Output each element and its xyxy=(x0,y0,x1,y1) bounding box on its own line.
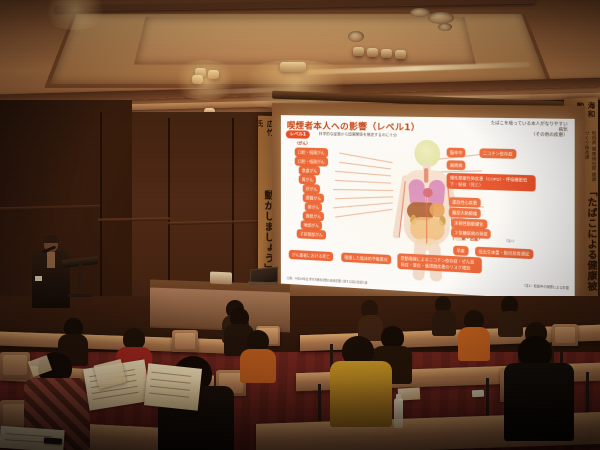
slide-top-note: たばこを吸っている本人がなりやすい 病気 〈その他の疾患〉 xyxy=(491,120,568,137)
chip-cancer: 胃がん xyxy=(299,175,316,185)
chip-cancer: 子宮頸部がん xyxy=(297,229,326,239)
leader-line xyxy=(335,196,393,199)
chip-birth: 低出生体重・胎児発育遅延 xyxy=(475,247,533,259)
attendee-body xyxy=(498,311,523,337)
leader-line xyxy=(335,180,391,183)
lectern-base xyxy=(68,294,92,297)
chip-other: 歯周病 xyxy=(447,160,466,170)
chip-other: 慢性閉塞性肺疾患（COPD）・呼吸機能低下・結核（死亡） xyxy=(447,173,536,192)
ceiling-vent xyxy=(348,31,364,42)
chair xyxy=(172,330,198,352)
projection-screen: 喫煙者本人への影響（レベル1） たばこを吸っている本人がなりやすい 病気 〈その… xyxy=(272,103,585,319)
slide-side-note: （注1）妊娠中の喫煙による影響 xyxy=(522,283,569,290)
chip-birth: 早産 xyxy=(453,246,468,256)
ceiling-light-housing xyxy=(280,62,306,72)
attendee-body xyxy=(432,310,456,336)
attendee-body xyxy=(504,363,574,441)
organ-trachea xyxy=(424,168,428,183)
wall-seam xyxy=(232,118,234,293)
equipment-box xyxy=(210,272,232,285)
leader-line xyxy=(333,189,393,191)
ceiling-spotlight-icon xyxy=(395,50,406,59)
slide-subtitle: 科学的な証拠から因果関係を推定するのに十分 xyxy=(319,132,397,139)
ceiling-spotlight-icon xyxy=(208,70,219,79)
presenter-hair xyxy=(43,235,59,243)
chip-bottom: がん患者における死亡 xyxy=(289,250,333,261)
table-leg xyxy=(586,372,589,418)
water-bottle xyxy=(394,398,403,428)
ceiling-vent xyxy=(410,8,430,17)
laptop xyxy=(248,268,278,286)
chip-other: 腹部大動脈瘤 xyxy=(449,208,481,219)
ceiling-vent xyxy=(438,23,452,31)
wall-seam xyxy=(100,112,102,302)
presenter-name-badge xyxy=(35,276,42,281)
attendee-body xyxy=(458,327,490,361)
handout-document xyxy=(144,363,202,410)
ceiling-spotlight-icon xyxy=(353,47,364,56)
leader-line xyxy=(339,162,391,169)
presentation-slide: 喫煙者本人への影響（レベル1） たばこを吸っている本人がなりやすい 病気 〈その… xyxy=(281,115,575,301)
slide-group-cancer: 〈がん〉 xyxy=(295,140,310,146)
leader-line xyxy=(333,202,393,208)
table-leg xyxy=(318,384,321,424)
chip-other: ２型糖尿病の発症 xyxy=(451,228,491,239)
chip-other: 虚血性心疾患 xyxy=(449,197,481,208)
chair xyxy=(0,352,30,378)
ceiling-spotlight-icon xyxy=(381,49,392,58)
ceiling-vent xyxy=(428,12,454,24)
ceiling-panel-inner xyxy=(134,17,476,65)
seminar-photo: 「楽しくからだを動かしましょう」 秋田市 市民健康づくり推進課 保健師 佐藤 広… xyxy=(0,0,600,450)
leader-line xyxy=(335,209,392,217)
slide-birth-note: （注1） xyxy=(504,238,516,243)
presenter-shirt xyxy=(47,252,55,268)
ceiling-spotlight-icon xyxy=(192,75,203,84)
leader-line xyxy=(339,153,392,163)
chip-bottom: 喫煙した臨床的予後悪化 xyxy=(341,253,391,265)
ceiling-spotlight-icon xyxy=(367,48,378,57)
pen xyxy=(44,437,62,444)
chip-other: ニコチン依存症 xyxy=(480,148,516,158)
chip-other: 脳卒中 xyxy=(447,148,466,158)
leader-line xyxy=(335,171,391,176)
wall-seam xyxy=(168,118,170,298)
organ-vessel xyxy=(426,197,427,243)
slide-level-badge: レベル1 xyxy=(286,130,310,138)
phone-device xyxy=(472,390,484,398)
chair xyxy=(552,324,578,346)
attendee-body xyxy=(240,349,276,383)
attendee-body xyxy=(330,361,392,427)
